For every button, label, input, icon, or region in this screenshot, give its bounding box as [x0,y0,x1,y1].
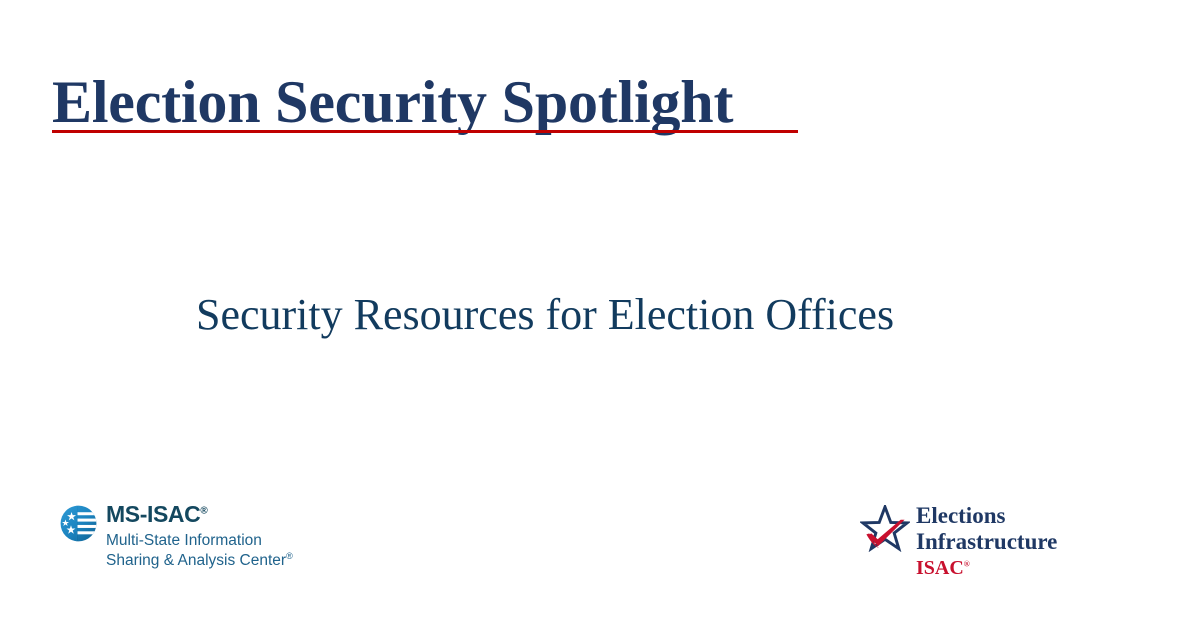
ms-isac-wordmark-text: MS-ISAC [106,501,200,527]
ms-isac-tagline-line-1: Multi-State Information [106,532,262,549]
ei-isac-wordmark-block: Elections Infrastructure ISAC® [916,503,1057,580]
ei-isac-logo: Elections Infrastructure ISAC® [860,503,1057,580]
registered-mark-icon: ® [286,551,293,561]
ei-isac-isac-text: ISAC [916,557,964,579]
title-block: Election Security Spotlight [52,72,733,132]
ei-isac-line-2: Infrastructure [916,529,1057,555]
us-flag-globe-icon [60,505,97,542]
page-subtitle: Security Resources for Election Offices [196,292,894,338]
title-underline-rule [52,130,798,133]
ms-isac-wordmark-block: MS-ISAC® Multi-State Information Sharing… [106,503,293,571]
ms-isac-tagline: Multi-State Information Sharing & Analys… [106,531,293,571]
ei-isac-line-1: Elections [916,503,1057,529]
ms-isac-logo: MS-ISAC® Multi-State Information Sharing… [60,503,293,571]
registered-mark-icon: ® [964,559,970,568]
slide-canvas: Election Security Spotlight Security Res… [0,0,1200,627]
page-title: Election Security Spotlight [52,72,733,132]
star-check-icon [860,505,910,552]
ei-isac-line-3: ISAC® [916,557,1057,580]
ms-isac-wordmark: MS-ISAC® [106,503,293,526]
ms-isac-tagline-line-2: Sharing & Analysis Center [106,552,286,569]
registered-mark-icon: ® [200,505,207,516]
